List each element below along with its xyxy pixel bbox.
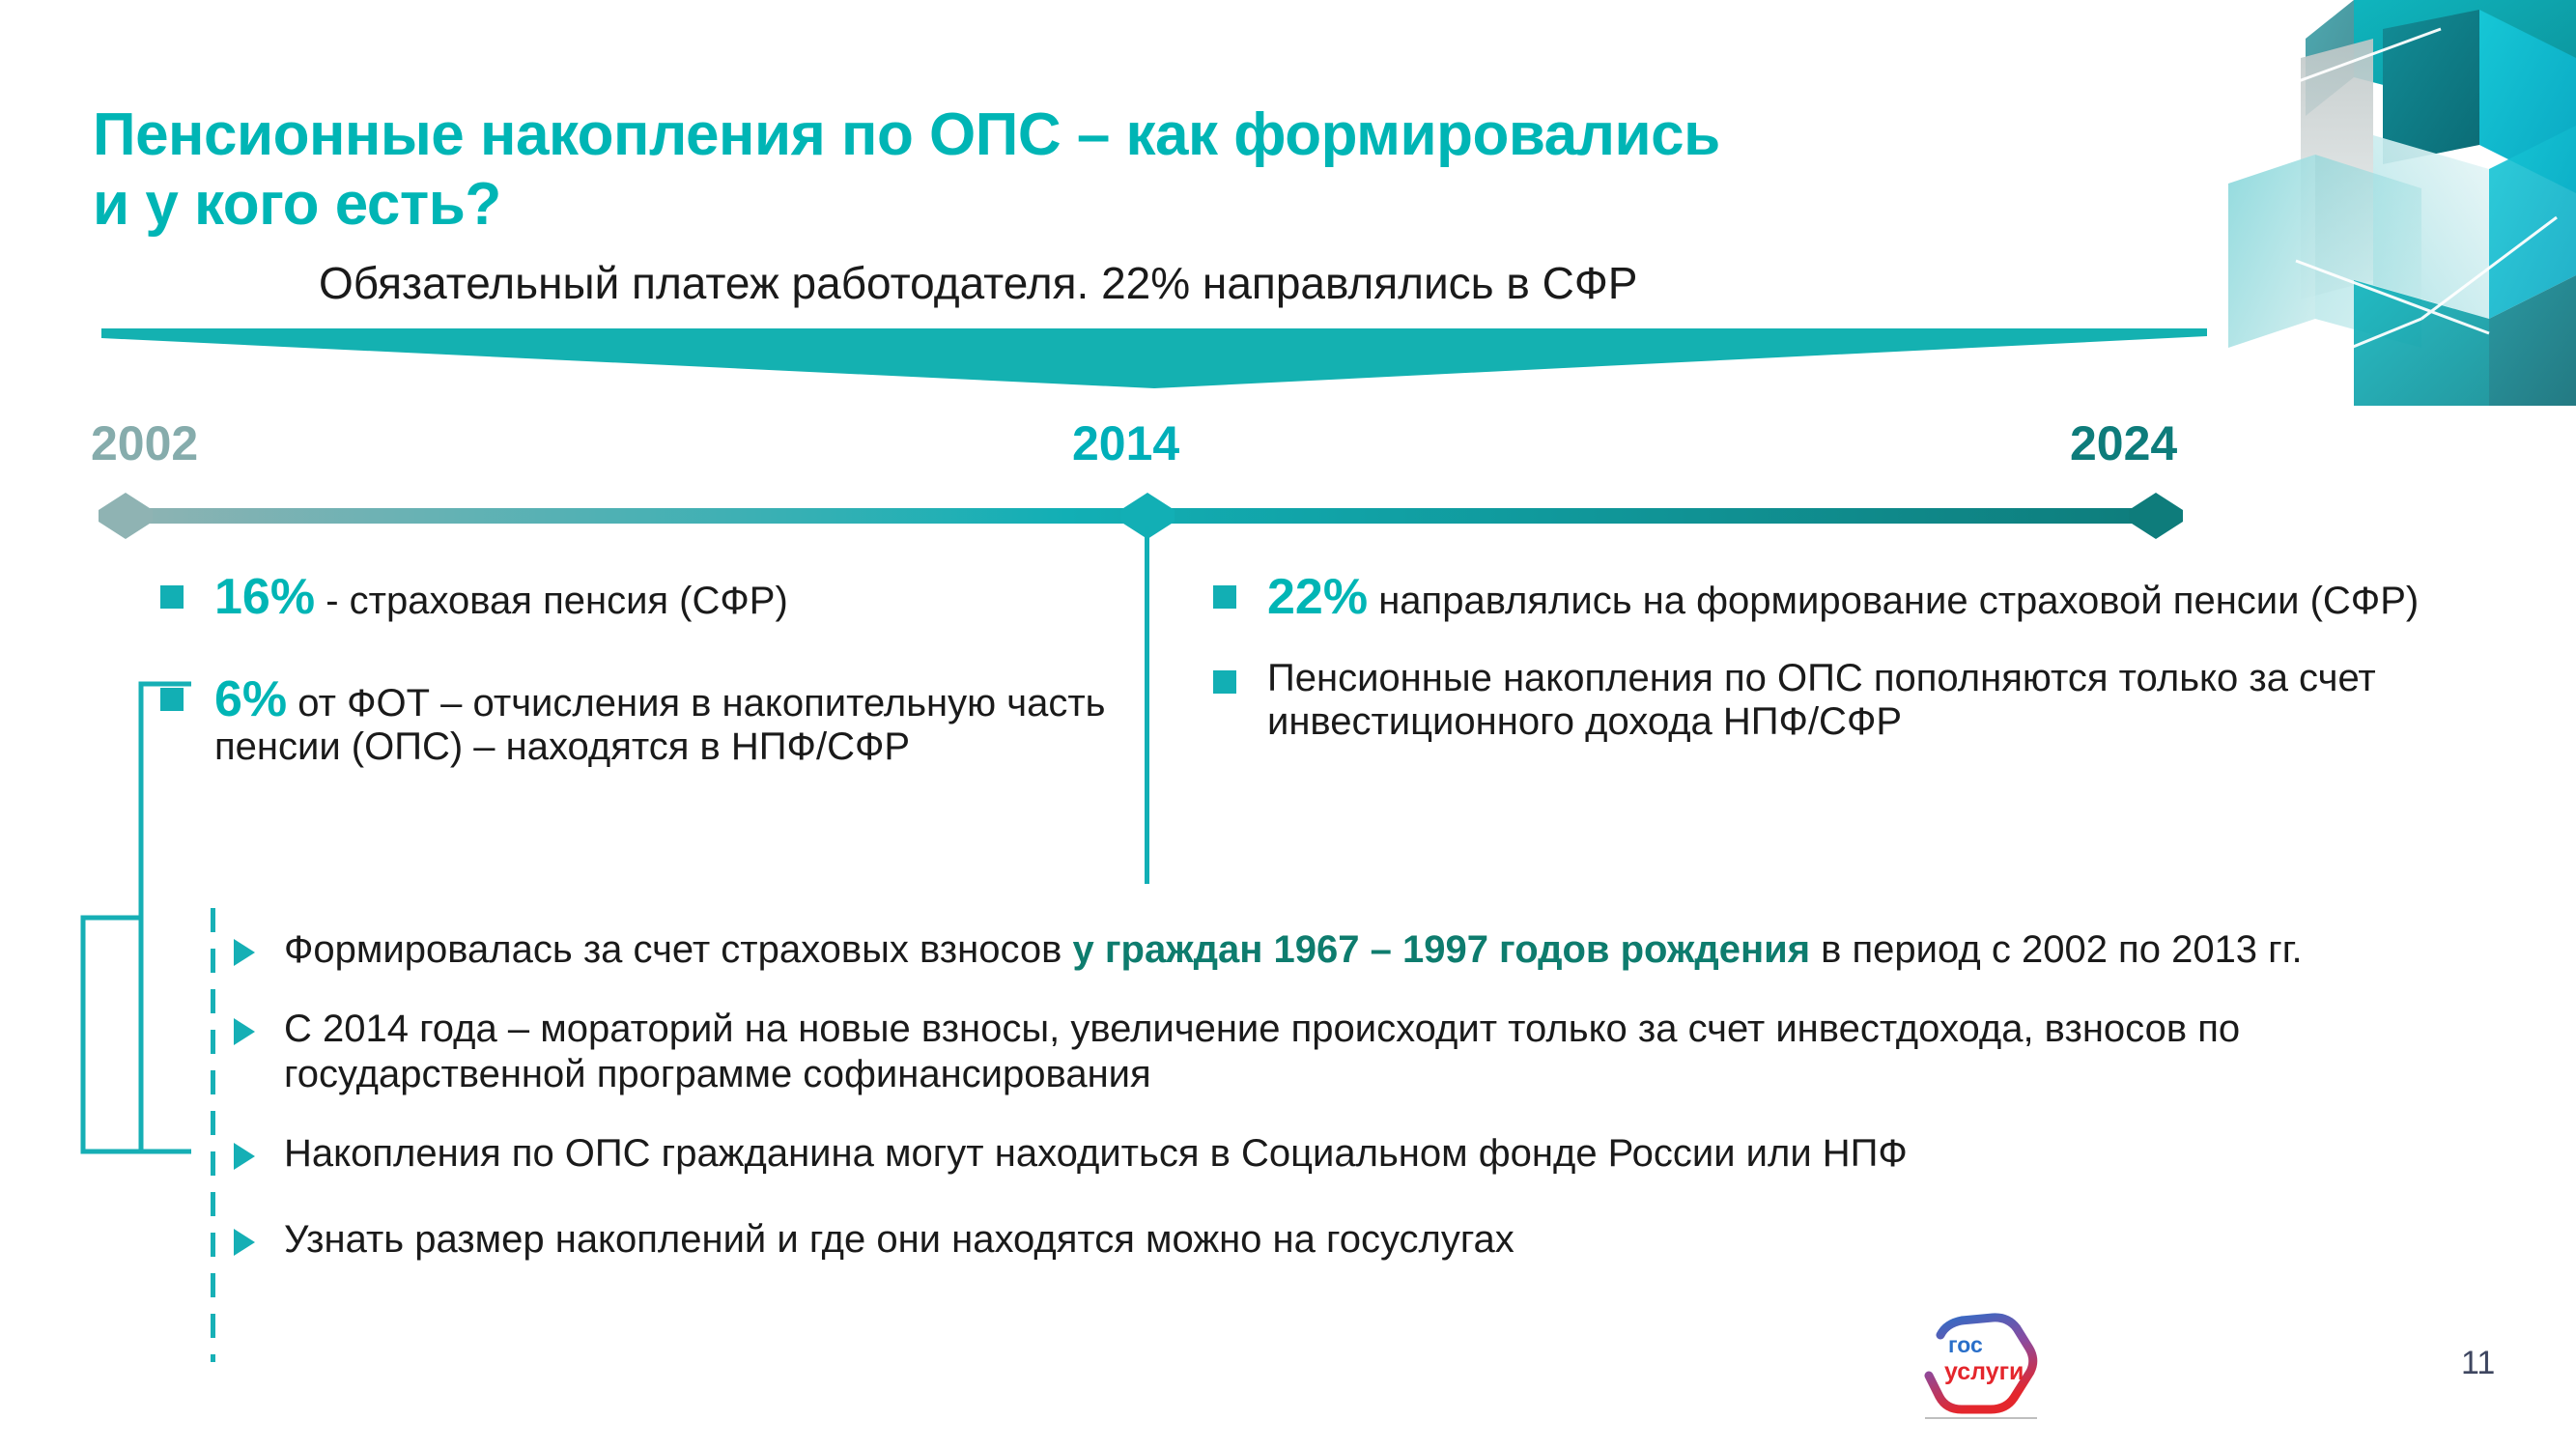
list-item: 22% направлялись на формирование страхов… — [1207, 572, 2482, 624]
timeline-year-2002: 2002 — [91, 415, 198, 471]
list-item-text: - страховая пенсия (СФР) — [315, 580, 788, 622]
subtitle: Обязательный платеж работодателя. 22% на… — [319, 259, 2154, 308]
left-bullet-column: 16% - страховая пенсия (СФР) 6% от ФОТ –… — [155, 572, 1120, 803]
timeline: 2002 2014 2024 — [0, 415, 2576, 541]
percent-sign: % — [242, 671, 287, 727]
list-item-text: Пенсионные накопления по ОПС пополняются… — [1267, 657, 2376, 744]
list-item: Пенсионные накопления по ОПС пополняются… — [1207, 657, 2482, 745]
page-title: Пенсионные накопления по ОПС – как форми… — [93, 100, 2169, 241]
square-bullet-icon — [160, 585, 184, 609]
list-item: Узнать размер накоплений и где они наход… — [230, 1217, 2374, 1262]
triangle-bullet-icon — [234, 939, 255, 966]
list-item-text: направлялись на формирование страховой п… — [1368, 580, 2419, 622]
bottom-arrow-list: Формировалась за счет страховых взносов … — [230, 927, 2374, 1293]
list-item-text-prefix: С 2014 года – мораторий на новые взносы,… — [284, 1008, 2240, 1094]
square-bullet-icon — [1213, 585, 1236, 609]
timeline-year-2014: 2014 — [1072, 415, 1179, 471]
list-item: 16% - страховая пенсия (СФР) — [155, 572, 1120, 624]
list-item-text: от ФОТ – отчисления в накопительную част… — [214, 682, 1106, 769]
percent-sign: % — [1323, 569, 1368, 625]
list-item: С 2014 года – мораторий на новые взносы,… — [230, 1007, 2374, 1096]
list-item-text-suffix: в период с 2002 по 2013 гг. — [1810, 928, 2303, 971]
page-title-line-2: и у кого есть? — [93, 170, 2169, 241]
square-bullet-icon — [1213, 670, 1236, 694]
list-item-text-prefix: Накопления по ОПС гражданина могут наход… — [284, 1132, 1908, 1175]
dashed-guide-line — [211, 908, 215, 1362]
highlighted-text: у граждан 1967 – 1997 годов рождения — [1073, 928, 1811, 971]
page-number: 11 — [2461, 1345, 2495, 1382]
percent-sign: % — [270, 569, 315, 625]
list-item: Накопления по ОПС гражданина могут наход… — [230, 1131, 2374, 1176]
triangle-bullet-icon — [234, 1229, 255, 1256]
timeline-node-2002 — [99, 493, 153, 539]
list-item-text-prefix: Узнать размер накоплений и где они наход… — [284, 1218, 1514, 1261]
percent-value: 6 — [214, 671, 242, 727]
triangle-bullet-icon — [234, 1018, 255, 1045]
timeline-year-2024: 2024 — [2070, 415, 2177, 471]
list-item-text-prefix: Формировалась за счет страховых взносов — [284, 928, 1073, 971]
timeline-axis — [0, 491, 2576, 541]
logo-text-top: гос — [1948, 1332, 1983, 1357]
teal-wedge-banner — [101, 328, 2207, 396]
timeline-2014-stem-divider — [1145, 526, 1149, 884]
slide-canvas: Пенсионные накопления по ОПС – как форми… — [0, 0, 2576, 1449]
list-item: Формировалась за счет страховых взносов … — [230, 927, 2374, 972]
percent-value: 22 — [1267, 569, 1323, 625]
triangle-bullet-icon — [234, 1143, 255, 1170]
gosuslugi-logo: гос услуги — [1917, 1306, 2045, 1424]
decorative-cube-graphic — [2199, 0, 2576, 406]
percent-value: 16 — [214, 569, 270, 625]
list-item: 6% от ФОТ – отчисления в накопительную ч… — [155, 674, 1120, 770]
square-bullet-icon — [160, 688, 184, 711]
page-title-line-1: Пенсионные накопления по ОПС – как форми… — [93, 100, 2169, 171]
logo-text-bottom: услуги — [1944, 1358, 2024, 1385]
right-bullet-column: 22% направлялись на формирование страхов… — [1207, 572, 2482, 778]
timeline-node-2024 — [2129, 493, 2183, 539]
